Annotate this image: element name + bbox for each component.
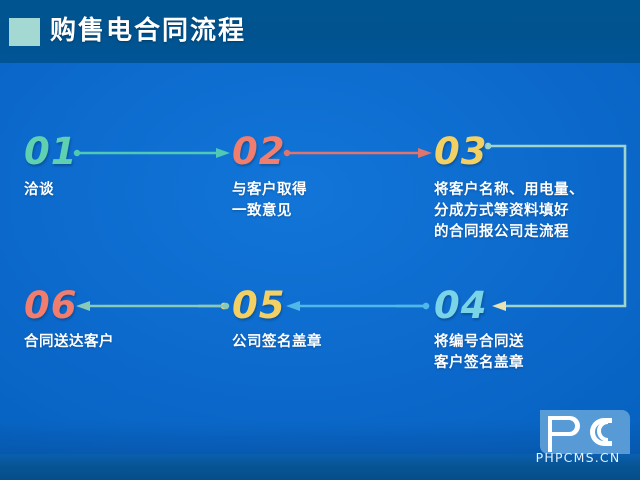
step-label-04: 将编号合同送 客户签名盖章: [434, 332, 524, 374]
connector-05-stub: [198, 296, 232, 316]
watermark-caption: PHPCMS.CN: [526, 450, 630, 465]
connector-04-stub: [396, 296, 432, 316]
step-label-05: 公司签名盖章: [232, 332, 322, 353]
step-label-01: 洽谈: [24, 180, 54, 201]
title-accent-square: [9, 18, 40, 46]
watermark-logo: PHPCMS.CN: [526, 408, 630, 470]
phpcms-logo-icon: [526, 408, 630, 454]
connector-02-to-03: [282, 143, 434, 163]
step-label-03: 将客户名称、用电量、 分成方式等资料填好 的合同报公司走流程: [434, 180, 584, 243]
step-label-06: 合同送达客户: [24, 332, 114, 353]
step-number-02: 02: [232, 132, 286, 172]
step-number-01: 01: [24, 132, 78, 172]
step-number-03: 03: [434, 132, 488, 172]
page-title: 购售电合同流程: [50, 14, 246, 48]
connector-01-to-02: [72, 143, 232, 163]
step-number-05: 05: [232, 286, 286, 326]
slide-canvas: 购售电合同流程 01 洽谈 02: [0, 0, 640, 480]
step-number-06: 06: [24, 286, 78, 326]
step-label-02: 与客户取得 一致意见: [232, 180, 307, 222]
step-number-04: 04: [434, 286, 488, 326]
